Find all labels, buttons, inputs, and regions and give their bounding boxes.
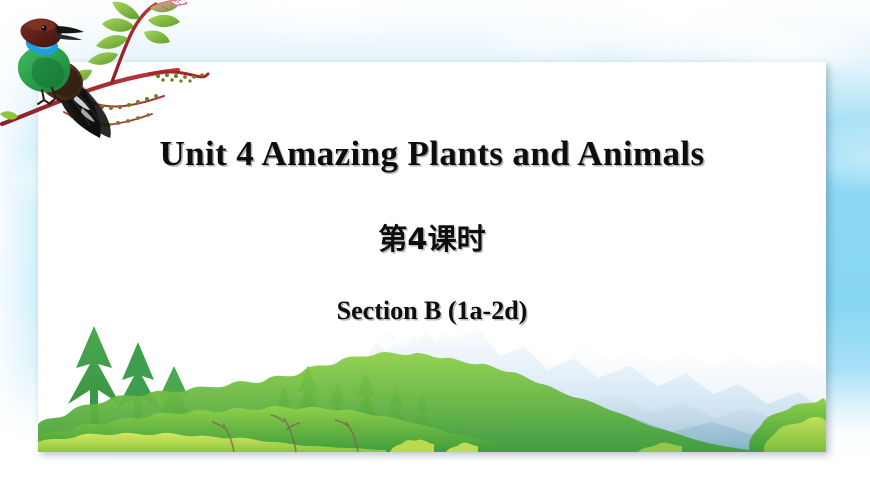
bird-eye: [41, 25, 46, 30]
bird-branch-svg: [0, 0, 230, 146]
scenery-svg: [38, 312, 826, 452]
slide-root: Unit 4 Amazing Plants and Animals 第4课时 S…: [0, 0, 870, 489]
section-label: Section B (1a-2d): [38, 258, 826, 326]
bird-beak: [56, 26, 84, 33]
lesson-number-cn: 第4课时: [38, 174, 826, 258]
cloud-wisp: [470, 8, 620, 63]
scenery-illustration: [38, 312, 826, 452]
bird: [18, 19, 111, 138]
bird-on-branch-illustration: [0, 0, 230, 146]
